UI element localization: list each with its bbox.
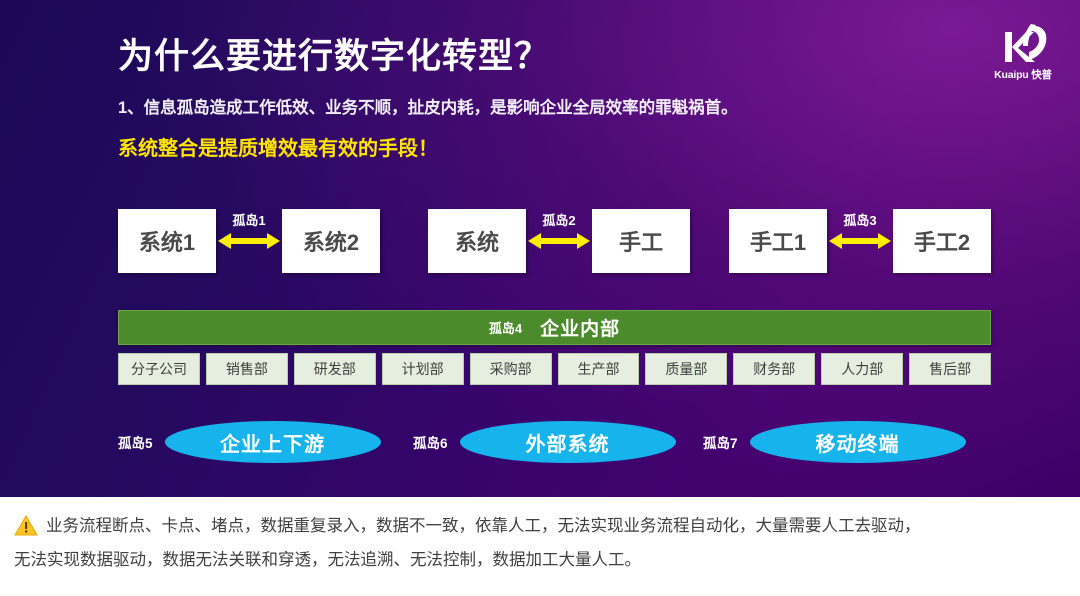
double-arrow-icon [528,232,590,250]
department-box: 研发部 [294,353,376,385]
double-arrow-icon [218,232,280,250]
brand-logo: Kuaipu 快普 [982,22,1064,84]
subtitle-point-2: 系统整合是提质增效最有效的手段！ [118,132,438,161]
double-arrow-icon [829,232,891,250]
external-ellipses-row: 孤岛5 企业上下游 孤岛6 外部系统 孤岛7 移动终端 [118,414,991,470]
isle-label: 孤岛4 [489,318,522,337]
system-pair-3: 手工1 孤岛3 手工2 [729,209,991,273]
departments-row: 分子公司 销售部 研发部 计划部 采购部 生产部 质量部 财务部 人力部 售后部 [118,353,991,385]
connector-1: 孤岛1 [216,209,282,273]
warning-triangle-icon [14,515,38,537]
kuaipu-logo-icon [982,22,1064,66]
ellipse-shape: 移动终端 [750,421,966,463]
slide-canvas: 为什么要进行数字化转型？ 1、信息孤岛造成工作低效、业务不顺，扯皮内耗，是影响企… [0,0,1080,596]
ellipse-shape: 外部系统 [460,421,676,463]
system-pair-2: 系统 孤岛2 手工 [428,209,690,273]
isle-label: 孤岛3 [843,210,876,229]
department-box: 采购部 [470,353,552,385]
department-box: 售后部 [909,353,991,385]
isle-label: 孤岛1 [232,210,265,229]
system-box: 手工 [592,209,690,273]
connector-2: 孤岛2 [526,209,592,273]
department-box: 人力部 [821,353,903,385]
slide-stage: 为什么要进行数字化转型？ 1、信息孤岛造成工作低效、业务不顺，扯皮内耗，是影响企… [0,0,1080,497]
department-box: 财务部 [733,353,815,385]
department-box: 计划部 [382,353,464,385]
ellipse-group-1: 孤岛5 企业上下游 [118,414,381,470]
system-box: 系统2 [282,209,380,273]
system-box: 系统1 [118,209,216,273]
department-box: 分子公司 [118,353,200,385]
isle-label: 孤岛6 [413,432,448,452]
department-box: 质量部 [645,353,727,385]
department-box: 销售部 [206,353,288,385]
department-box: 生产部 [558,353,640,385]
ellipse-group-2: 孤岛6 外部系统 [413,414,676,470]
note-line-2: 无法实现数据驱动，数据无法关联和穿透，无法追溯、无法控制，数据加工大量人工。 [14,543,1066,577]
internal-bar-caption: 企业内部 [540,314,620,341]
system-pair-1: 系统1 孤岛1 系统2 [118,209,380,273]
note-line-1: 业务流程断点、卡点、堵点，数据重复录入，数据不一致，依靠人工，无法实现业务流程自… [46,509,921,543]
connector-3: 孤岛3 [827,209,893,273]
note-line-1-wrap: 业务流程断点、卡点、堵点，数据重复录入，数据不一致，依靠人工，无法实现业务流程自… [14,509,1066,543]
isle-label: 孤岛5 [118,432,153,452]
system-box: 手工1 [729,209,827,273]
system-boxes-row: 系统1 孤岛1 系统2 系统 孤岛2 手工 [118,209,991,273]
bottom-note: 业务流程断点、卡点、堵点，数据重复录入，数据不一致，依靠人工，无法实现业务流程自… [0,497,1080,596]
page-title: 为什么要进行数字化转型？ [118,28,550,79]
subtitle-point-1: 1、信息孤岛造成工作低效、业务不顺，扯皮内耗，是影响企业全局效率的罪魁祸首。 [118,94,738,118]
ellipse-shape: 企业上下游 [165,421,381,463]
internal-enterprise-bar: 孤岛4 企业内部 [118,310,991,345]
logo-wordmark: Kuaipu 快普 [982,67,1064,82]
system-box: 手工2 [893,209,991,273]
system-box: 系统 [428,209,526,273]
ellipse-group-3: 孤岛7 移动终端 [703,414,966,470]
isle-label: 孤岛2 [542,210,575,229]
isle-label: 孤岛7 [703,432,738,452]
